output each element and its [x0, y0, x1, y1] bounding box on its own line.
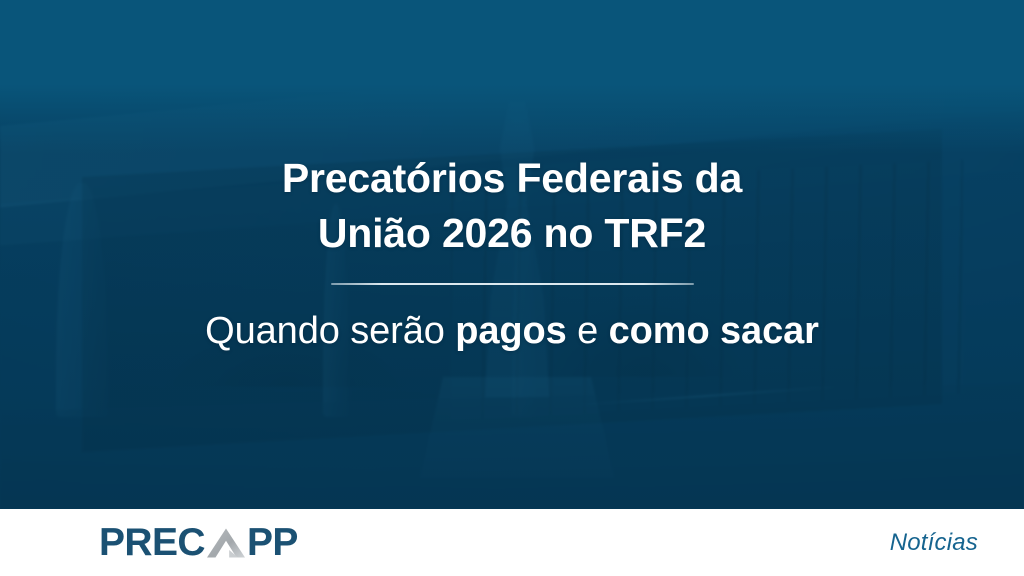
subtitle-emphasis-1: pagos: [455, 310, 566, 352]
hero-section: Precatórios Federais da União 2026 no TR…: [0, 0, 1024, 509]
news-banner: Precatórios Federais da União 2026 no TR…: [0, 0, 1024, 576]
footer-bar: PREC PP Notícias: [0, 509, 1024, 576]
page-title-line-2: União 2026 no TRF2: [318, 210, 706, 256]
section-label: Notícias: [890, 529, 978, 557]
page-title: Precatórios Federais da União 2026 no TR…: [152, 151, 872, 261]
subtitle-text-2: e: [567, 310, 609, 352]
logo-text-prefix: PREC: [99, 523, 205, 562]
precapp-logo[interactable]: PREC PP: [99, 523, 298, 562]
page-title-line-1: Precatórios Federais da: [282, 155, 742, 201]
subtitle-text-1: Quando serão: [205, 310, 455, 352]
subtitle-emphasis-2: como sacar: [609, 310, 819, 352]
title-divider: [331, 283, 694, 285]
logo-text-suffix: PP: [247, 523, 298, 562]
logo-a-chevron-icon: [206, 528, 246, 558]
page-subtitle: Quando serão pagos e como sacar: [152, 305, 872, 358]
hero-content: Precatórios Federais da União 2026 no TR…: [0, 0, 1024, 509]
